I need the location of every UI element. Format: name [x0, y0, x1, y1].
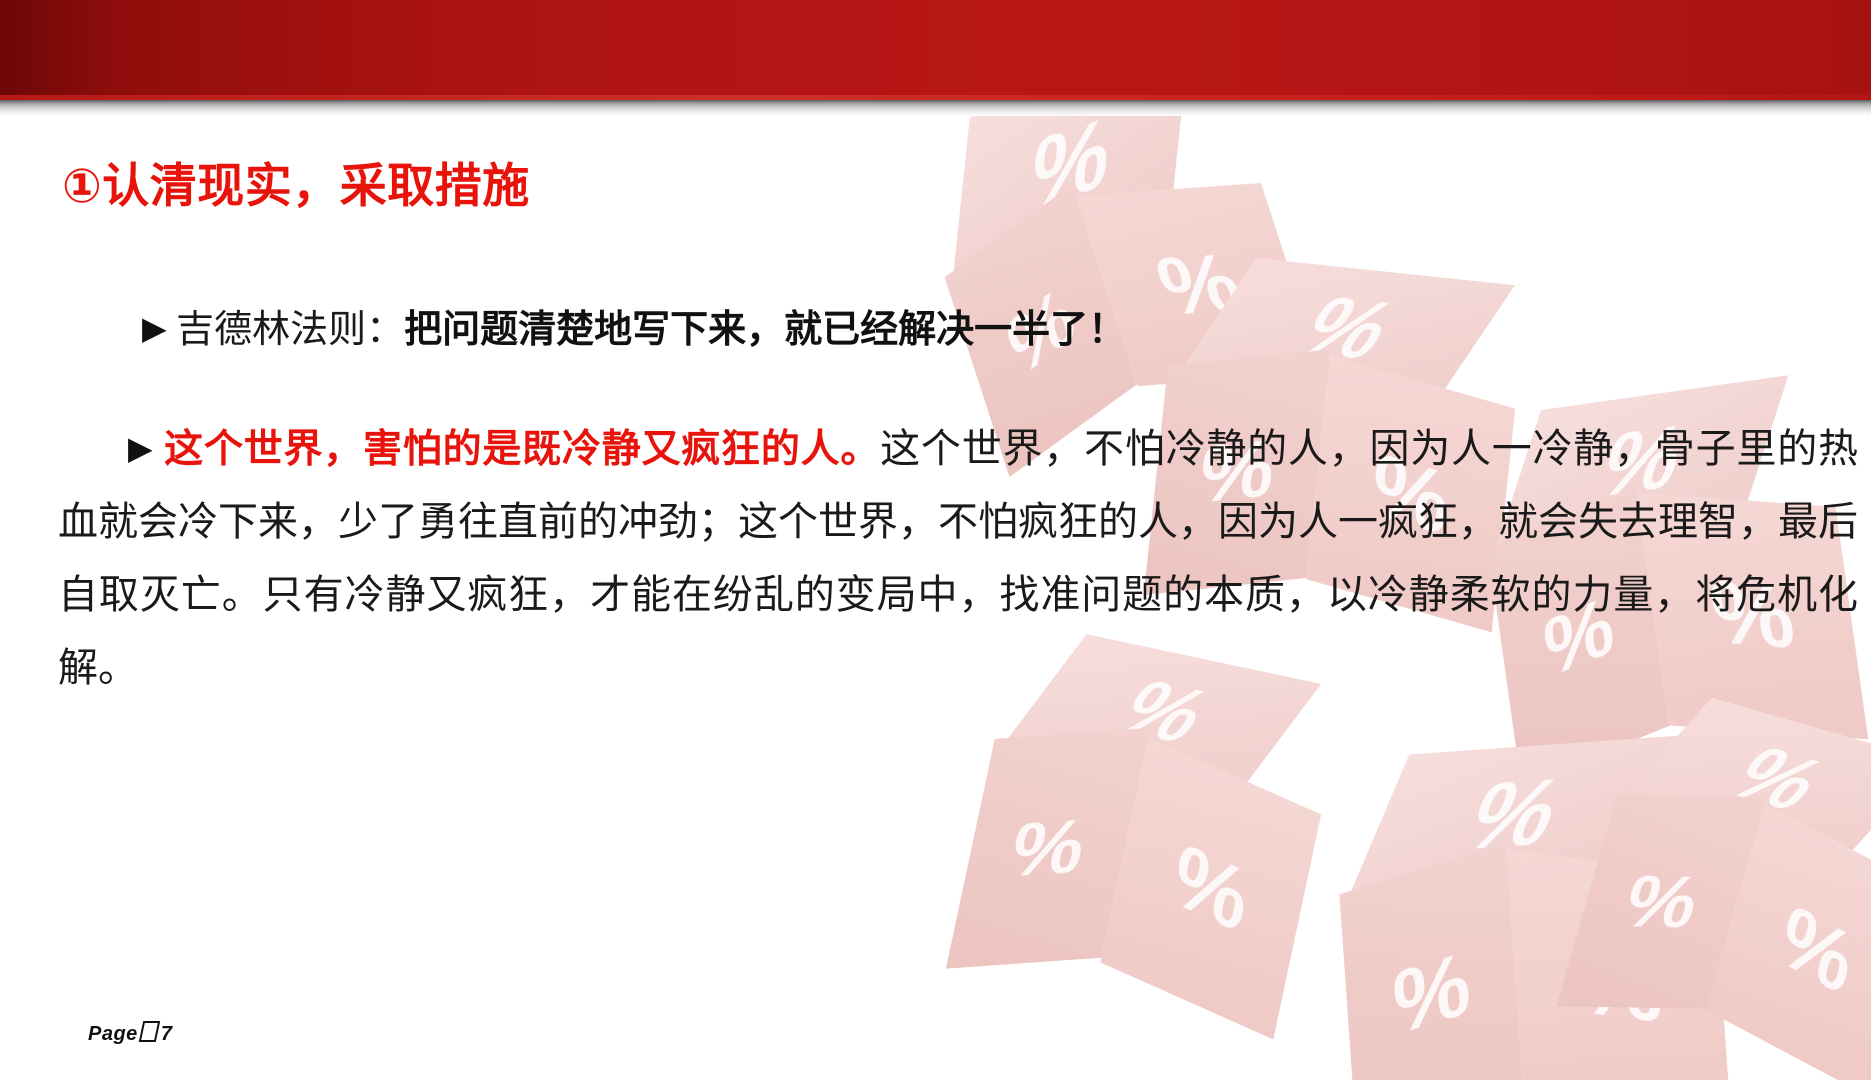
- slide-title: ①认清现实，采取措施: [62, 160, 530, 214]
- missing-glyph-icon: [139, 1021, 160, 1042]
- bullet-item-1: ▶ 吉德林法则：把问题清楚地写下来，就已经解决一半了！: [58, 310, 1858, 349]
- bullet-2-lead: 这个世界，害怕的是既冷静又疯狂的人。: [164, 427, 880, 472]
- bullet-1-label: 吉德林法则：: [176, 309, 404, 351]
- slide-content: ①认清现实，采取措施 ▶ 吉德林法则：把问题清楚地写下来，就已经解决一半了！ ▶…: [0, 0, 1871, 1080]
- slide-body: ▶ 吉德林法则：把问题清楚地写下来，就已经解决一半了！ ▶ 这个世界，害怕的是既…: [58, 310, 1858, 704]
- header-banner: [0, 0, 1871, 100]
- page-footer-number: 7: [161, 1023, 173, 1045]
- bullet-1-emphasis: 把问题清楚地写下来，就已经解决一半了！: [404, 307, 1126, 351]
- triangle-bullet-icon: ▶: [128, 429, 153, 467]
- page-footer: Page7: [88, 1021, 172, 1046]
- triangle-bullet-icon: ▶: [142, 309, 167, 347]
- slide-canvas: % % % % % % % % % % % % % % % % % %: [0, 0, 1871, 1080]
- header-divider-strip: [0, 100, 1871, 116]
- bullet-item-2: ▶ 这个世界，害怕的是既冷静又疯狂的人。这个世界，不怕冷静的人，因为人一冷静，骨…: [58, 413, 1858, 704]
- page-footer-prefix: Page: [88, 1023, 138, 1045]
